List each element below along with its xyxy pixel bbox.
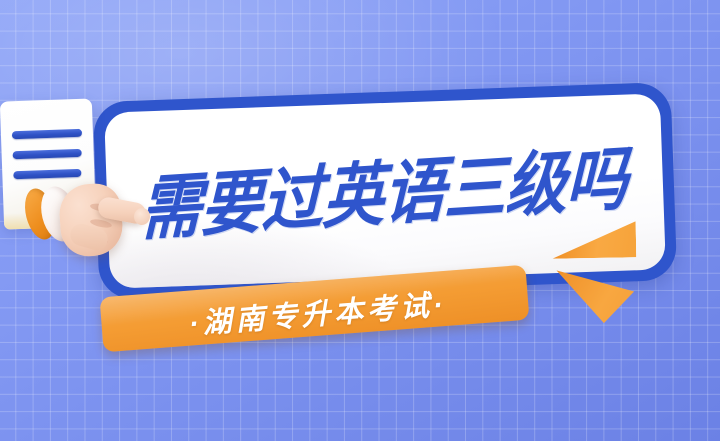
document-line-1 — [12, 129, 82, 139]
document-line-2 — [13, 149, 82, 159]
pointing-hand-icon — [26, 178, 146, 270]
headline-card-inner — [104, 93, 666, 288]
headline-card — [93, 82, 678, 300]
poster-canvas: 需要过英语三级吗 ·湖南专升本考试· — [0, 0, 720, 441]
